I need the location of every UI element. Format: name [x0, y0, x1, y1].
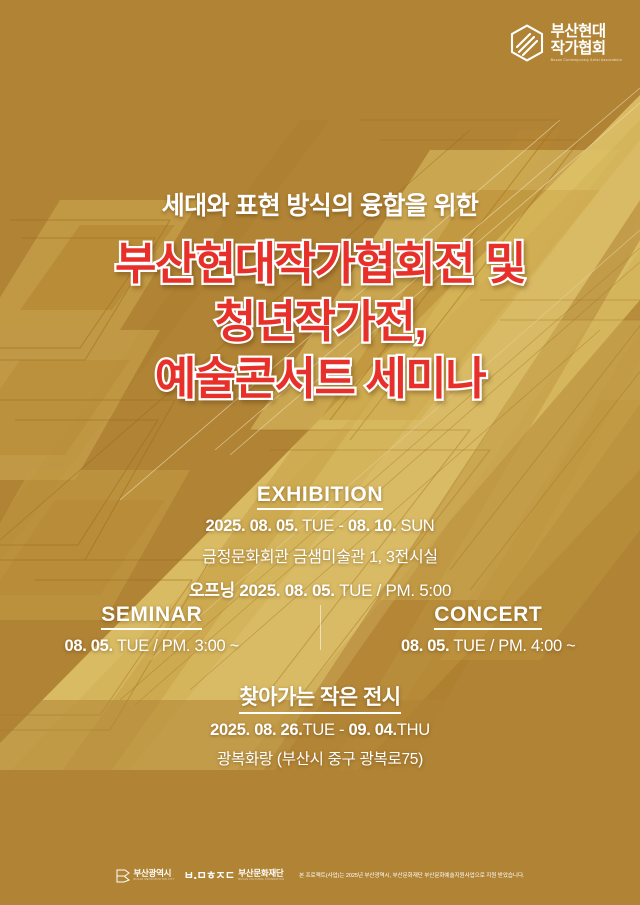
small-exhibition-heading: 찾아가는 작은 전시 [239, 681, 400, 714]
hexagon-stripes-icon [510, 24, 544, 62]
busan-city-emblem-icon [116, 868, 130, 883]
seminar-datetime: 08. 05. TUE / PM. 3:00 ~ [0, 637, 304, 656]
concert-datetime: 08. 05. TUE / PM. 4:00 ~ [337, 637, 640, 656]
exhibition-date-start: 2025. 08. 05. [206, 517, 298, 535]
exhibition-day-start: TUE - [298, 517, 348, 535]
concert-column: CONCERT 08. 05. TUE / PM. 4:00 ~ [321, 603, 640, 656]
poster-main-title: 부산현대작가협회전 및 청년작가전, 예술콘서트 세미나 [0, 235, 640, 408]
exhibition-opening: 오프닝 2025. 08. 05. TUE / PM. 5:00 [0, 576, 640, 601]
logo-name-line1: 부산현대 [551, 24, 622, 40]
small-exhibition-day-end: THU [397, 721, 430, 739]
exhibition-day-end: SUN [396, 517, 434, 535]
busan-city-logo: 부산광역시 BUSAN METROPOLITAN CITY [116, 868, 175, 883]
busan-city-name-en: BUSAN METROPOLITAN CITY [134, 879, 175, 882]
main-title-line-3: 예술콘서트 세미나 [0, 350, 640, 408]
main-title-line-1: 부산현대작가협회전 및 [0, 235, 640, 293]
small-exhibition-section: 찾아가는 작은 전시 2025. 08. 26.TUE - 09. 04.THU… [0, 681, 640, 769]
bscf-wordmark-icon: ㅂ.ㅁㅎㅈㄷ [184, 867, 235, 883]
poster-subtitle: 세대와 표현 방식의 융합을 위한 [0, 186, 640, 222]
opening-label-date: 오프닝 2025. 08. 05. [189, 581, 335, 600]
small-exhibition-date-end: 09. 04. [348, 721, 396, 739]
seminar-time: TUE / PM. 3:00 ~ [113, 637, 239, 655]
foundation-name-kr: 부산문화재단 [238, 869, 284, 878]
main-title-line-2: 청년작가전, [0, 293, 640, 351]
association-logo: 부산현대 작가협회 Busan Contemporary Artist Asso… [510, 24, 622, 63]
title-block: 세대와 표현 방식의 융합을 위한 부산현대작가협회전 및 청년작가전, 예술콘… [0, 186, 640, 408]
seminar-date: 08. 05. [64, 637, 112, 655]
association-logo-text: 부산현대 작가협회 Busan Contemporary Artist Asso… [551, 24, 622, 63]
logo-name-en: Busan Contemporary Artist Association [551, 59, 622, 63]
exhibition-venue: 금정문화회관 금샘미술관 1, 3전시실 [0, 543, 640, 567]
busan-cultural-foundation-logo: ㅂ.ㅁㅎㅈㄷ 부산문화재단 BUSAN CULTURAL FOUNDATION [184, 867, 284, 883]
small-exhibition-venue: 광복화랑 (부산시 중구 광복로75) [0, 747, 640, 769]
exhibition-heading: EXHIBITION [257, 483, 383, 510]
exhibition-section: EXHIBITION 2025. 08. 05. TUE - 08. 10. S… [0, 483, 640, 601]
small-exhibition-date-start: 2025. 08. 26. [210, 721, 302, 739]
concert-time: TUE / PM. 4:00 ~ [449, 637, 575, 655]
seminar-column: SEMINAR 08. 05. TUE / PM. 3:00 ~ [0, 603, 320, 656]
footer-sponsors: 부산광역시 BUSAN METROPOLITAN CITY ㅂ.ㅁㅎㅈㄷ 부산문… [0, 867, 640, 883]
exhibition-date-end: 08. 10. [348, 517, 396, 535]
small-exhibition-dates: 2025. 08. 26.TUE - 09. 04.THU [0, 721, 640, 740]
small-exhibition-day-start: TUE - [303, 721, 349, 739]
seminar-heading: SEMINAR [101, 603, 202, 630]
concert-date: 08. 05. [401, 637, 449, 655]
foundation-logo-text: 부산문화재단 BUSAN CULTURAL FOUNDATION [238, 869, 284, 882]
seminar-concert-section: SEMINAR 08. 05. TUE / PM. 3:00 ~ CONCERT… [0, 603, 640, 656]
background-geometric-pattern [0, 0, 640, 905]
poster-canvas: 부산현대 작가협회 Busan Contemporary Artist Asso… [0, 0, 640, 905]
opening-time: TUE / PM. 5:00 [335, 581, 451, 600]
foundation-name-en: BUSAN CULTURAL FOUNDATION [238, 879, 284, 882]
funding-note: 본 프로젝트(사업)는 2025년 부산광역시, 부산문화재단 부산문화예술지원… [299, 871, 524, 879]
logo-name-line2: 작가협회 [551, 41, 622, 57]
busan-city-name-kr: 부산광역시 [134, 869, 175, 878]
exhibition-dates: 2025. 08. 05. TUE - 08. 10. SUN [0, 517, 640, 536]
busan-city-logo-text: 부산광역시 BUSAN METROPOLITAN CITY [134, 869, 175, 882]
concert-heading: CONCERT [434, 603, 542, 630]
